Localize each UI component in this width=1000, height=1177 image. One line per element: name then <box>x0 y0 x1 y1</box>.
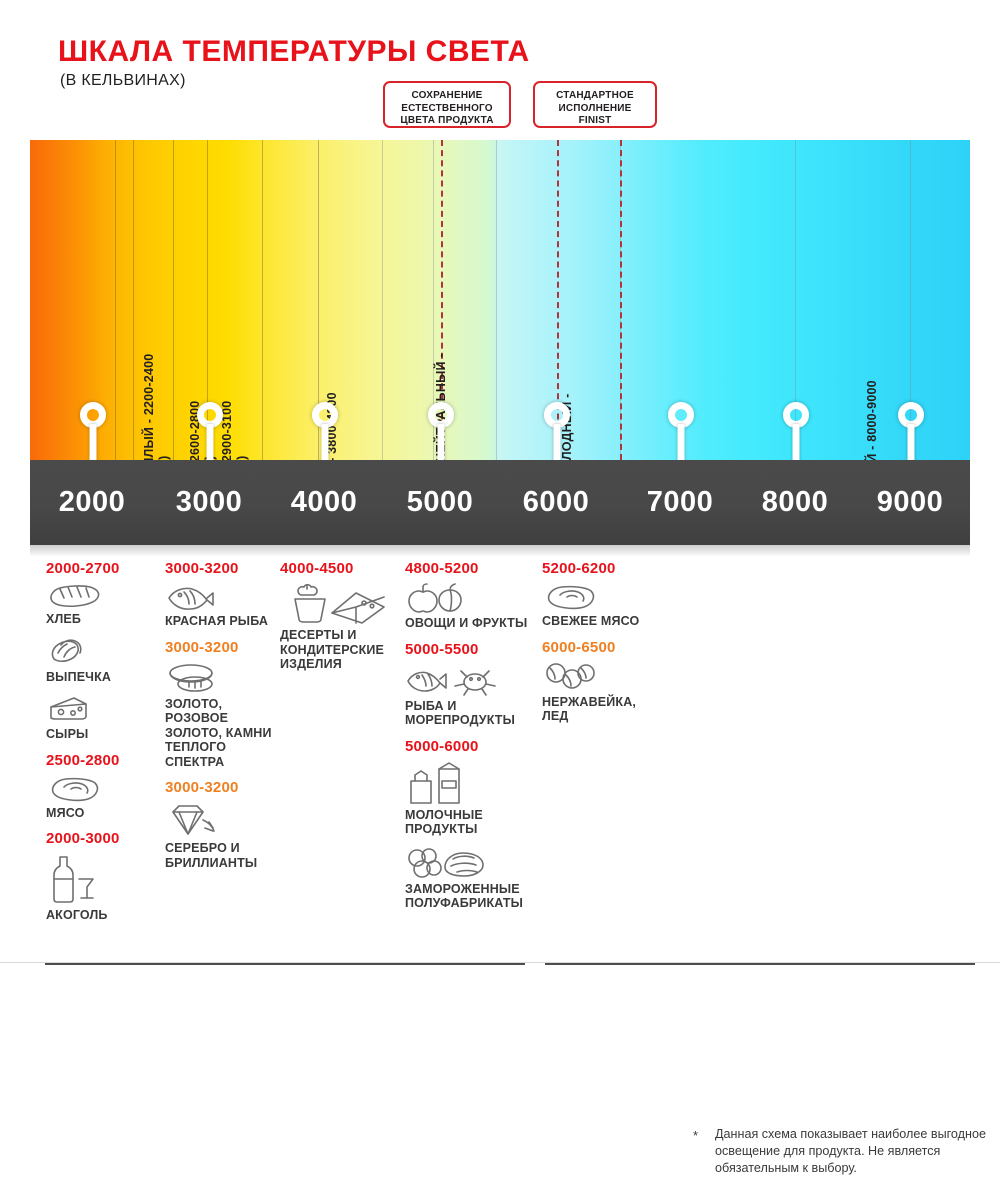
scale-tick-5000: 5000 <box>407 486 474 519</box>
legend-group: 3000-3200 ЗОЛОТО, РОЗОВОЕ ЗОЛОТО, КАМНИ … <box>165 639 287 770</box>
pin-stem <box>90 424 97 460</box>
legend-range: 5000-5500 <box>405 641 550 658</box>
callout-line: СОХРАНЕНИЕ <box>389 90 505 103</box>
legend-column-5: 5200-6200 СВЕЖЕЕ МЯСО 6000-6500 НЕРЖАВЕЙ… <box>542 560 660 734</box>
scale-tick-4000: 4000 <box>291 486 358 519</box>
legend-caption: ЗОЛОТО, РОЗОВОЕ ЗОЛОТО, КАМНИ ТЕПЛОГО СП… <box>165 697 287 770</box>
spectrum-separator <box>496 140 497 460</box>
legend-caption: ВЫПЕЧКА <box>46 670 168 685</box>
legend-group: 5000-5500 РЫБА И МОРЕПРОДУКТЫ <box>405 641 550 728</box>
legend-range: 2000-3000 <box>46 830 168 847</box>
steak-icon <box>542 583 660 611</box>
legend-range: 6000-6500 <box>542 639 660 656</box>
legend-group: 5000-6000 МОЛОЧНЫЕ ПРОДУКТЫ ЗАМОРОЖЕННЫЕ… <box>405 738 550 911</box>
footnote-marker: * <box>693 1128 698 1143</box>
legend-range: 2500-2800 <box>46 752 168 769</box>
bottom-rule-right <box>545 963 975 965</box>
callout-line: ИСПОЛНЕНИЕ <box>539 103 651 116</box>
callout-line: ЦВЕТА ПРОДУКТА <box>389 115 505 128</box>
legend-caption: АКОГОЛЬ <box>46 908 168 923</box>
callout-natural-color: СОХРАНЕНИЕ ЕСТЕСТВЕННОГО ЦВЕТА ПРОДУКТА <box>383 81 511 128</box>
legend-caption: СЫРЫ <box>46 727 168 742</box>
tick-pin-9000 <box>910 402 912 460</box>
scale-tick-3000: 3000 <box>176 486 243 519</box>
legend-column-2: 3000-3200 КРАСНАЯ РЫБА 3000-3200 ЗОЛОТО,… <box>165 560 287 880</box>
kelvin-scale-bar: 2000 3000 4000 5000 6000 7000 8000 9000 <box>30 460 970 545</box>
legend-caption: ДЕСЕРТЫ И КОНДИТЕРСКИЕ ИЗДЕЛИЯ <box>280 628 404 672</box>
legend-group: 6000-6500 НЕРЖАВЕЙКА, ЛЕД <box>542 639 660 724</box>
legend-group: 3000-3200 КРАСНАЯ РЫБА <box>165 560 287 629</box>
tick-pin-3000 <box>209 402 211 460</box>
legend-caption: МЯСО <box>46 806 168 821</box>
legend-caption: ХЛЕБ <box>46 612 168 627</box>
zone-label-cold: ХОЛОДНЫЙ - 8000-9000 <box>865 380 879 460</box>
spectrum-separator <box>382 140 383 460</box>
legend-caption: ЗАМОРОЖЕННЫЕ ПОЛУФАБРИКАТЫ <box>405 882 550 911</box>
callout-line: СТАНДАРТНОЕ <box>539 90 651 103</box>
fish-icon <box>165 583 287 611</box>
legend-range: 4000-4500 <box>280 560 404 577</box>
tick-pin-7000 <box>680 402 682 460</box>
pin-stem <box>322 424 329 460</box>
tick-pin-8000 <box>795 402 797 460</box>
pin-stem <box>793 424 800 460</box>
legend-caption: НЕРЖАВЕЙКА, ЛЕД <box>542 695 660 724</box>
legend-group: 4800-5200 ОВОЩИ И ФРУКТЫ <box>405 560 550 631</box>
scale-tick-7000: 7000 <box>647 486 714 519</box>
alcohol-icon <box>46 853 168 905</box>
infographic-root: ШКАЛА ТЕМПЕРАТУРЫ СВЕТА (В КЕЛЬВИНАХ) СО… <box>0 0 1000 1000</box>
legend-group: 2500-2800 МЯСО <box>46 752 168 821</box>
seafood-icon <box>405 664 550 696</box>
pin-stem <box>554 424 561 460</box>
page-subtitle: (В КЕЛЬВИНАХ) <box>60 72 186 90</box>
croissant-icon <box>46 637 168 667</box>
scale-tick-8000: 8000 <box>762 486 829 519</box>
spectrum-separator <box>115 140 116 460</box>
legend-range: 5200-6200 <box>542 560 660 577</box>
scale-tick-6000: 6000 <box>523 486 590 519</box>
tick-pin-4000 <box>324 402 326 460</box>
spectrum-gradient <box>30 140 970 460</box>
legend-caption: СВЕЖЕЕ МЯСО <box>542 614 660 629</box>
legend-column-4: 4800-5200 ОВОЩИ И ФРУКТЫ 5000-5500 РЫБА … <box>405 560 550 921</box>
footnote: * Данная схема показывает наиболее выгод… <box>693 1126 1000 1177</box>
guide-line-finist-end <box>620 140 622 460</box>
dairy-icon <box>405 761 550 805</box>
frozen-icon <box>405 847 550 879</box>
dessert-icon <box>280 583 404 625</box>
legend-group: 5200-6200 СВЕЖЕЕ МЯСО <box>542 560 660 629</box>
legend-column-3: 4000-4500 ДЕСЕРТЫ И КОНДИТЕРСКИЕ ИЗДЕЛИЯ <box>280 560 404 682</box>
spectrum-separator <box>133 140 134 460</box>
fruit-icon <box>405 583 550 613</box>
legend-range: 5000-6000 <box>405 738 550 755</box>
tick-pin-2000 <box>92 402 94 460</box>
pin-stem <box>438 424 445 460</box>
legend-range: 3000-3200 <box>165 779 287 796</box>
legend-caption: ОВОЩИ И ФРУКТЫ <box>405 616 550 631</box>
tick-pin-5000 <box>440 402 442 460</box>
cheese-icon <box>46 694 168 724</box>
diamond-icon <box>165 802 287 838</box>
legend-group: 4000-4500 ДЕСЕРТЫ И КОНДИТЕРСКИЕ ИЗДЕЛИЯ <box>280 560 404 672</box>
tick-pin-6000 <box>556 402 558 460</box>
rings-icon <box>165 662 287 694</box>
scale-tick-9000: 9000 <box>877 486 944 519</box>
legend-group: 3000-3200 СЕРЕБРО И БРИЛЛИАНТЫ <box>165 779 287 870</box>
legend-range: 3000-3200 <box>165 560 287 577</box>
pin-stem <box>207 424 214 460</box>
pin-stem <box>908 424 915 460</box>
footnote-text: Данная схема показывает наиболее выгодно… <box>715 1126 1000 1177</box>
legend-group: 2000-2700 ХЛЕБ ВЫПЕЧКА СЫРЫ <box>46 560 168 742</box>
legend-column-1: 2000-2700 ХЛЕБ ВЫПЕЧКА СЫРЫ 2500-2800 <box>46 560 168 933</box>
bottom-rule-left <box>45 963 525 965</box>
product-legend: 2000-2700 ХЛЕБ ВЫПЕЧКА СЫРЫ 2500-2800 <box>30 560 970 945</box>
legend-range: 3000-3200 <box>165 639 287 656</box>
legend-range: 4800-5200 <box>405 560 550 577</box>
legend-caption: РЫБА И МОРЕПРОДУКТЫ <box>405 699 550 728</box>
legend-caption: КРАСНАЯ РЫБА <box>165 614 287 629</box>
ice-icon <box>542 662 660 692</box>
legend-caption: МОЛОЧНЫЕ ПРОДУКТЫ <box>405 808 550 837</box>
scale-bar-shadow <box>30 545 970 557</box>
page-title: ШКАЛА ТЕМПЕРАТУРЫ СВЕТА <box>58 35 530 69</box>
legend-group: 2000-3000 АКОГОЛЬ <box>46 830 168 923</box>
pin-stem <box>678 424 685 460</box>
legend-range: 2000-2700 <box>46 560 168 577</box>
callout-line: FINIST <box>539 115 651 128</box>
bread-icon <box>46 583 168 609</box>
legend-caption: СЕРЕБРО И БРИЛЛИАНТЫ <box>165 841 287 870</box>
callout-line: ЕСТЕСТВЕННОГО <box>389 103 505 116</box>
meat-icon <box>46 775 168 803</box>
spectrum-bar: СУПЕР ТЕПЛЫЙ - 2200-2400 (тип К 2400) ТЕ… <box>30 140 970 460</box>
zone-label-super-warm: СУПЕР ТЕПЛЫЙ - 2200-2400 <box>142 354 156 460</box>
callout-finist-standard: СТАНДАРТНОЕ ИСПОЛНЕНИЕ FINIST <box>533 81 657 128</box>
spectrum-separator <box>173 140 174 460</box>
scale-tick-2000: 2000 <box>59 486 126 519</box>
spectrum-separator <box>262 140 263 460</box>
